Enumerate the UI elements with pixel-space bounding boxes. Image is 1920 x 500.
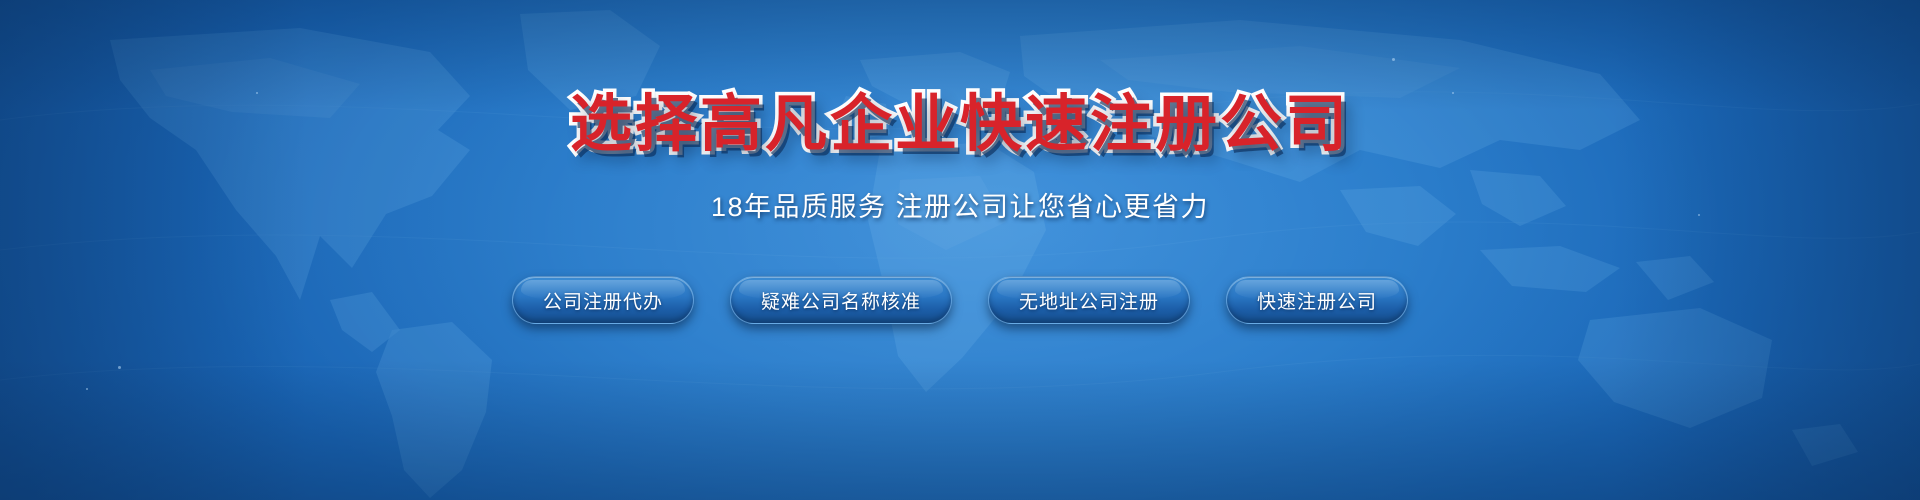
hero-banner: 选择高凡企业快速注册公司 18年品质服务 注册公司让您省心更省力 公司注册代办 … [0, 0, 1920, 500]
banner-subtitle: 18年品质服务 注册公司让您省心更省力 [711, 185, 1209, 224]
service-button-difficult-name-approval[interactable]: 疑难公司名称核准 [730, 276, 952, 324]
service-button-group: 公司注册代办 疑难公司名称核准 无地址公司注册 快速注册公司 [512, 276, 1408, 324]
service-button-fast-registration[interactable]: 快速注册公司 [1226, 276, 1408, 324]
service-button-no-address-registration[interactable]: 无地址公司注册 [988, 276, 1190, 324]
service-button-label: 快速注册公司 [1257, 287, 1377, 314]
service-button-label: 疑难公司名称核准 [761, 287, 921, 314]
service-button-label: 公司注册代办 [543, 287, 663, 314]
banner-content: 选择高凡企业快速注册公司 18年品质服务 注册公司让您省心更省力 公司注册代办 … [0, 0, 1920, 500]
service-button-label: 无地址公司注册 [1019, 287, 1159, 314]
page-title: 选择高凡企业快速注册公司 [570, 92, 1350, 157]
service-button-company-registration-agency[interactable]: 公司注册代办 [512, 276, 694, 324]
